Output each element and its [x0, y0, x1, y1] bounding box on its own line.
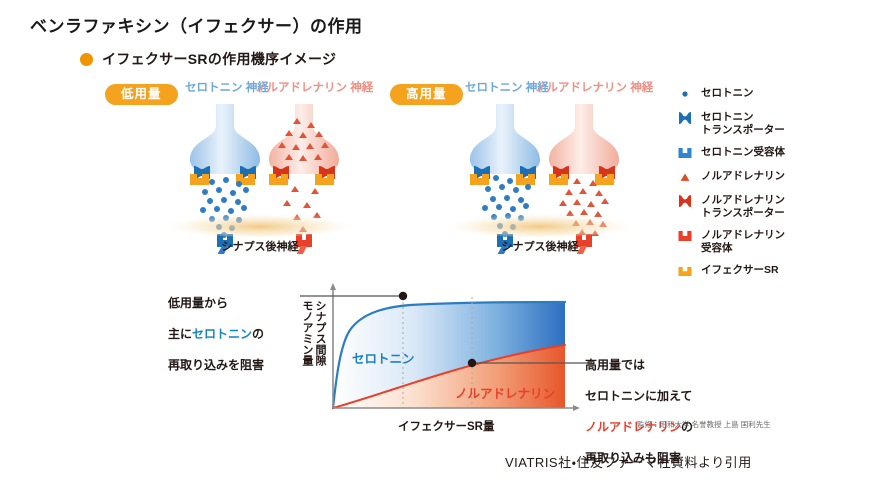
effexor-sr-icon	[676, 263, 693, 278]
legend-item-serotonin: セロトニン	[676, 86, 876, 101]
panel1-postsynaptic-label: シナプス後神経	[190, 238, 330, 254]
legend: セロトニン セロトニン トランスポーター セロトニン受容体 ノルアドレナリン	[676, 86, 876, 287]
low-dose-marker	[399, 292, 407, 300]
legend-label-noradrenaline-transporter: ノルアドレナリン トランスポーター	[701, 193, 785, 219]
panel1-synaptic-cleft	[160, 205, 360, 239]
serotonin-receptor-icon	[676, 145, 693, 160]
noradrenaline-transporter-icon	[676, 193, 693, 208]
page-title: ベンラファキシン（イフェクサー）の作用	[30, 12, 363, 37]
panel2-noradrenaline-nerve-label: ノルアドレナリン 神経	[535, 82, 635, 95]
chart-series-label-serotonin: セロトニン	[352, 348, 415, 367]
orange-dot-icon	[80, 53, 93, 66]
chart-y-axis-label-col1: シナプス間隙	[313, 300, 326, 366]
panel2-postsynaptic-label: シナプス後神経	[470, 238, 610, 254]
annotation-left-line1: 低用量から	[168, 296, 264, 312]
legend-label-noradrenaline-receptor: ノルアドレナリン 受容体	[701, 228, 785, 254]
slide-root: ベンラファキシン（イフェクサー）の作用 イフェクサーSRの作用機序イメージ 低用…	[0, 0, 886, 498]
legend-item-effexor-sr: イフェクサーSR	[676, 263, 876, 278]
chart-x-axis-label: イフェクサーSR量	[398, 418, 494, 434]
chart-series-label-noradrenaline: ノルアドレナリン	[455, 383, 555, 402]
serotonin-dot-icon	[676, 86, 693, 101]
legend-label-serotonin-receptor: セロトニン受容体	[701, 145, 785, 159]
legend-item-noradrenaline-transporter: ノルアドレナリン トランスポーター	[676, 193, 876, 219]
legend-item-serotonin-receptor: セロトニン受容体	[676, 145, 876, 160]
panel2-synaptic-cleft	[440, 205, 640, 239]
annotation-left-serotonin: セロトニン	[192, 327, 252, 341]
section-heading: イフェクサーSRの作用機序イメージ	[80, 49, 336, 69]
serotonin-transporter-icon	[676, 110, 693, 125]
credit-supervisor: 監修：昭和大学 名誉教授 上島 国利先生	[637, 419, 771, 430]
credit-source: VIATRIS社・住友ファーマ社資料より引用	[505, 452, 752, 471]
noradrenaline-triangle-icon	[676, 169, 693, 184]
legend-label-noradrenaline: ノルアドレナリン	[701, 169, 785, 183]
panel1-noradrenaline-nerve-label: ノルアドレナリン 神経	[255, 82, 355, 95]
legend-item-noradrenaline-receptor: ノルアドレナリン 受容体	[676, 228, 876, 254]
section-heading-label: イフェクサーSRの作用機序イメージ	[102, 49, 336, 69]
panel2-serotonin-nerve-label: セロトニン 神経	[465, 82, 545, 95]
legend-label-serotonin: セロトニン	[701, 86, 754, 100]
legend-label-effexor-sr: イフェクサーSR	[701, 263, 779, 277]
chart-y-axis-label-col2: モノアミン量	[300, 300, 313, 366]
legend-item-noradrenaline: ノルアドレナリン	[676, 169, 876, 184]
annotation-left-line3: 再取り込みを阻害	[168, 358, 264, 374]
dose-badge-low: 低用量	[105, 84, 178, 105]
legend-item-serotonin-transporter: セロトニン トランスポーター	[676, 110, 876, 136]
annotation-left-line2: 主にセロトニンの	[168, 327, 264, 343]
high-dose-marker	[468, 359, 476, 367]
panel1-serotonin-nerve-label: セロトニン 神経	[185, 82, 265, 95]
annotation-left: 低用量から 主にセロトニンの 再取り込みを阻害	[168, 280, 264, 389]
chart-y-axis-label: シナプス間隙 モノアミン量	[300, 300, 326, 366]
noradrenaline-receptor-icon	[676, 228, 693, 243]
legend-label-serotonin-transporter: セロトニン トランスポーター	[701, 110, 785, 136]
dose-badge-high: 高用量	[390, 84, 463, 105]
